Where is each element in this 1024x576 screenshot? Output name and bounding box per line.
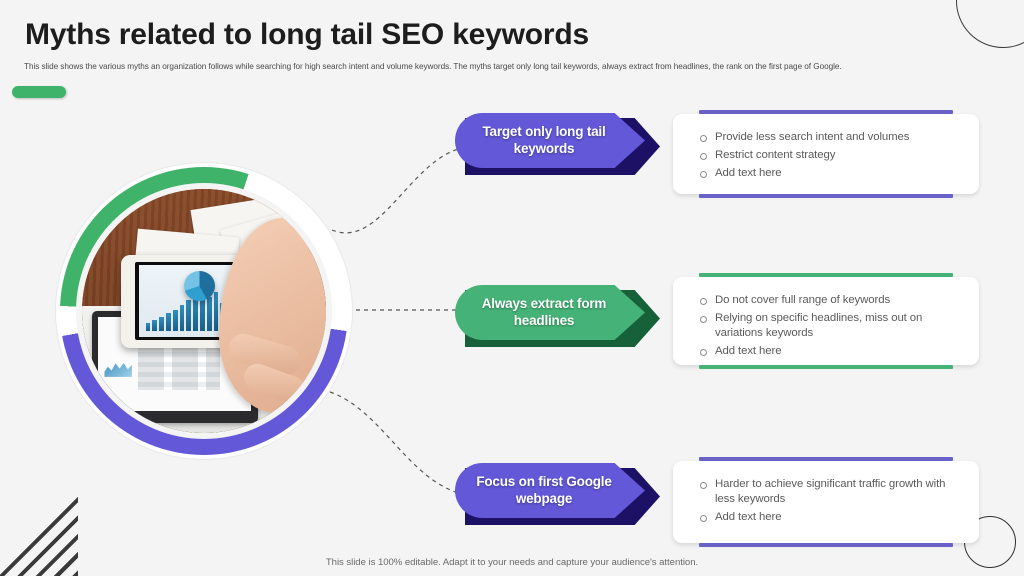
card-body: Harder to achieve significant traffic gr… [673,461,979,539]
footer-note: This slide is 100% editable. Adapt it to… [0,557,1024,568]
card-top-bar [699,457,953,461]
list-item: Relying on specific headlines, miss out … [695,311,965,341]
page-title: Myths related to long tail SEO keywords [25,18,589,52]
card-top-bar [699,110,953,114]
card-top-bar [699,273,953,277]
card-body: Do not cover full range of keywords Rely… [673,277,979,373]
myth-label-1[interactable]: Target only long tail keywords [455,113,660,175]
myth-label-3[interactable]: Focus on first Google webpage [455,463,660,525]
photo-tablet-table-rows [138,347,220,390]
list-item: Do not cover full range of keywords [695,293,965,308]
myth-card-1: Provide less search intent and volumes R… [673,114,979,194]
page-subtitle: This slide shows the various myths an or… [24,62,1006,72]
decorative-circle-top-right-icon [956,0,1024,48]
title-accent-pill [12,86,66,98]
list-item: Restrict content strategy [695,148,965,163]
label-body: Focus on first Google webpage [455,463,645,518]
card-bottom-bar [699,543,953,547]
slide-canvas: Myths related to long tail SEO keywords … [0,0,1024,576]
myth-card-3: Harder to achieve significant traffic gr… [673,461,979,543]
card-bottom-bar [699,365,953,369]
list-item: Add text here [695,344,965,359]
card-body: Provide less search intent and volumes R… [673,114,979,195]
list-item: Add text here [695,166,965,181]
circular-photo-graphic [56,163,352,459]
list-item: Provide less search intent and volumes [695,130,965,145]
list-item: Add text here [695,510,965,525]
myth-label-2[interactable]: Always extract form headlines [455,285,660,347]
label-text: Target only long tail keywords [455,124,645,158]
label-text: Focus on first Google webpage [455,474,645,508]
photo-analytics-smartphone [82,189,326,433]
list-item: Harder to achieve significant traffic gr… [695,477,965,507]
card-bottom-bar [699,194,953,198]
photo-tablet-sparkline [104,360,131,377]
label-text: Always extract form headlines [455,296,645,330]
myth-card-2: Do not cover full range of keywords Rely… [673,277,979,365]
label-body: Always extract form headlines [455,285,645,340]
label-body: Target only long tail keywords [455,113,645,168]
